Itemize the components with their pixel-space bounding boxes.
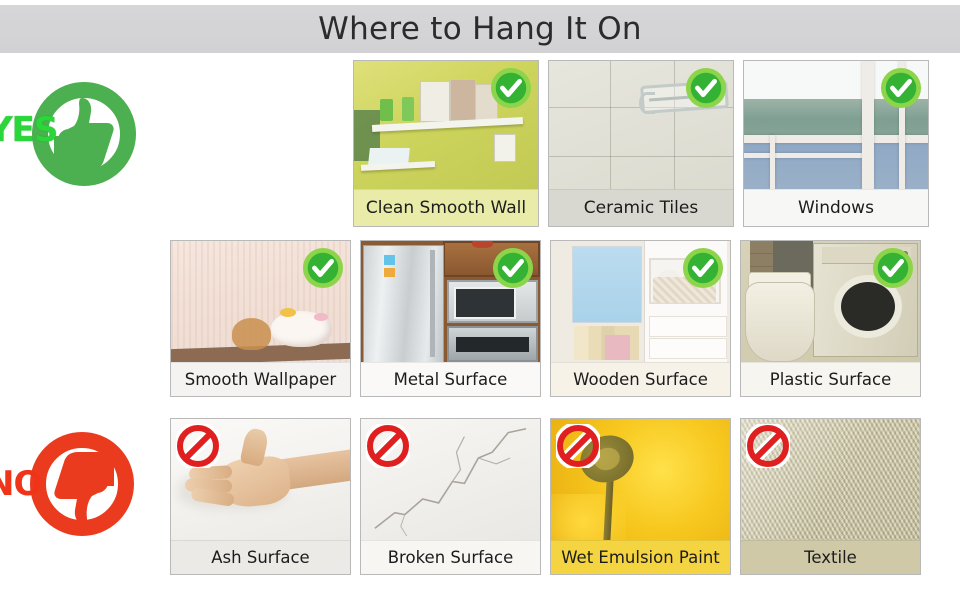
photo-broken-surface	[361, 419, 540, 540]
prohibition-icon	[176, 424, 220, 468]
prohibition-icon	[366, 424, 410, 468]
card-ceramic-tiles[interactable]: Ceramic Tiles	[548, 60, 734, 227]
no-label: NO	[0, 464, 41, 504]
card-clean-smooth-wall[interactable]: Clean Smooth Wall	[353, 60, 539, 227]
card-label: Textile	[741, 540, 920, 574]
card-ash-surface[interactable]: Ash Surface	[170, 418, 351, 575]
card-smooth-wallpaper[interactable]: Smooth Wallpaper	[170, 240, 351, 397]
card-label: Wooden Surface	[551, 362, 730, 396]
photo-smooth-wallpaper	[171, 241, 350, 362]
card-label: Ash Surface	[171, 540, 350, 574]
card-row-2: Smooth Wallpaper Metal Surface	[170, 240, 921, 397]
check-circle-icon	[872, 247, 914, 289]
card-windows[interactable]: Windows	[743, 60, 929, 227]
check-circle-icon	[880, 67, 922, 109]
card-textile[interactable]: Textile	[740, 418, 921, 575]
card-wooden-surface[interactable]: Wooden Surface	[550, 240, 731, 397]
thumbs-up-icon	[52, 96, 116, 174]
card-label: Smooth Wallpaper	[171, 362, 350, 396]
card-wet-emulsion-paint[interactable]: Wet Emulsion Paint	[550, 418, 731, 575]
photo-ash-surface	[171, 419, 350, 540]
prohibition-icon	[556, 424, 600, 468]
card-label: Wet Emulsion Paint	[551, 540, 730, 574]
prohibition-icon	[746, 424, 790, 468]
page-title: Where to Hang It On	[0, 5, 960, 53]
check-circle-icon	[492, 247, 534, 289]
card-label: Clean Smooth Wall	[354, 189, 538, 226]
verdict-badge-yes: YES	[0, 72, 170, 222]
card-label: Ceramic Tiles	[549, 189, 733, 226]
check-circle-icon	[682, 247, 724, 289]
verdict-badge-no: NO	[0, 424, 170, 574]
check-circle-icon	[490, 67, 532, 109]
card-label: Windows	[744, 189, 928, 226]
photo-wooden-surface	[551, 241, 730, 362]
card-plastic-surface[interactable]: Plastic Surface	[740, 240, 921, 397]
card-label: Plastic Surface	[741, 362, 920, 396]
card-broken-surface[interactable]: Broken Surface	[360, 418, 541, 575]
yes-label: YES	[0, 110, 57, 150]
card-label: Metal Surface	[361, 362, 540, 396]
thumbs-down-icon	[52, 446, 116, 526]
card-row-1: Clean Smooth Wall Ceramic Tiles	[353, 60, 929, 227]
infographic-page: Where to Hang It On YES NO	[0, 0, 960, 598]
photo-windows	[744, 61, 928, 189]
card-label: Broken Surface	[361, 540, 540, 574]
photo-clean-smooth-wall	[354, 61, 538, 189]
card-metal-surface[interactable]: Metal Surface	[360, 240, 541, 397]
photo-textile	[741, 419, 920, 540]
card-row-3: Ash Surface Bro	[170, 418, 921, 575]
check-circle-icon	[302, 247, 344, 289]
photo-ceramic-tiles	[549, 61, 733, 189]
photo-wet-emulsion-paint	[551, 419, 730, 540]
photo-metal-surface	[361, 241, 540, 362]
check-circle-icon	[685, 67, 727, 109]
photo-plastic-surface	[741, 241, 920, 362]
